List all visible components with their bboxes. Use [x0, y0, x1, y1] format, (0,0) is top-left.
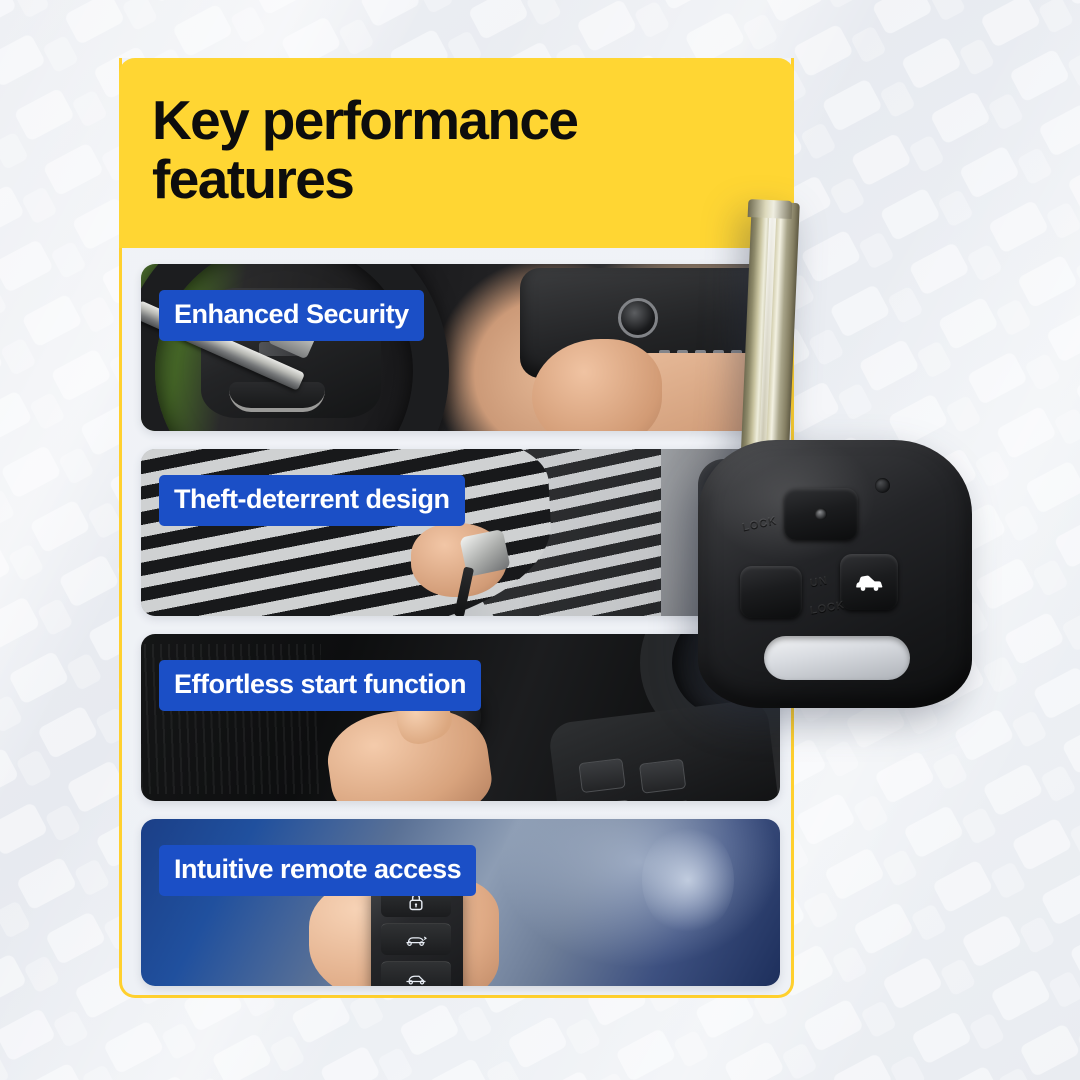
- page-title: Key performance features: [152, 91, 752, 210]
- lock-emboss-label: LOCK: [741, 514, 778, 533]
- key-blade-tip: [748, 199, 793, 219]
- lock-button[interactable]: [784, 488, 858, 540]
- trunk-button[interactable]: [840, 554, 898, 610]
- trunk-emboss-label: LOCK: [809, 599, 846, 617]
- feature-item-theft-deterrent-design[interactable]: Theft-deterrent design: [141, 449, 780, 616]
- led-indicator: [875, 478, 890, 493]
- console-button-home: [646, 800, 693, 801]
- key-ring-hole: [764, 636, 910, 680]
- feature-item-intuitive-remote-access[interactable]: Intuitive remote access: [141, 819, 780, 986]
- console-button-power: [578, 758, 625, 793]
- lock-button-dot: [815, 508, 827, 520]
- remote-head-key: LOCK UN LOCK: [690, 200, 990, 710]
- key-blade: [740, 201, 800, 471]
- dashboard-dial: [618, 298, 658, 338]
- unlock-button[interactable]: [740, 566, 802, 618]
- center-console: [548, 698, 780, 801]
- feature-badge-label: Intuitive remote access: [159, 845, 476, 896]
- console-button-volume: [586, 799, 633, 801]
- steering-wheel-lower-spoke: [229, 382, 325, 412]
- feature-badge-label: Enhanced Security: [159, 290, 424, 341]
- trunk-glyph: [854, 572, 884, 592]
- feature-item-enhanced-security[interactable]: Enhanced Security: [141, 264, 780, 431]
- background-bokeh: [642, 825, 734, 935]
- car-unlock-icon: [381, 923, 451, 955]
- feature-list: Enhanced Security Theft-deterrent design: [141, 264, 781, 986]
- trunk-icon: [381, 961, 451, 986]
- feature-badge-label: Theft-deterrent design: [159, 475, 465, 526]
- key-fob-body: LOCK UN LOCK: [698, 440, 972, 708]
- unlock-emboss-label: UN: [809, 575, 829, 590]
- console-button-nav: [639, 759, 686, 794]
- feature-item-effortless-start-function[interactable]: Effortless start function: [141, 634, 780, 801]
- feature-badge-label: Effortless start function: [159, 660, 481, 711]
